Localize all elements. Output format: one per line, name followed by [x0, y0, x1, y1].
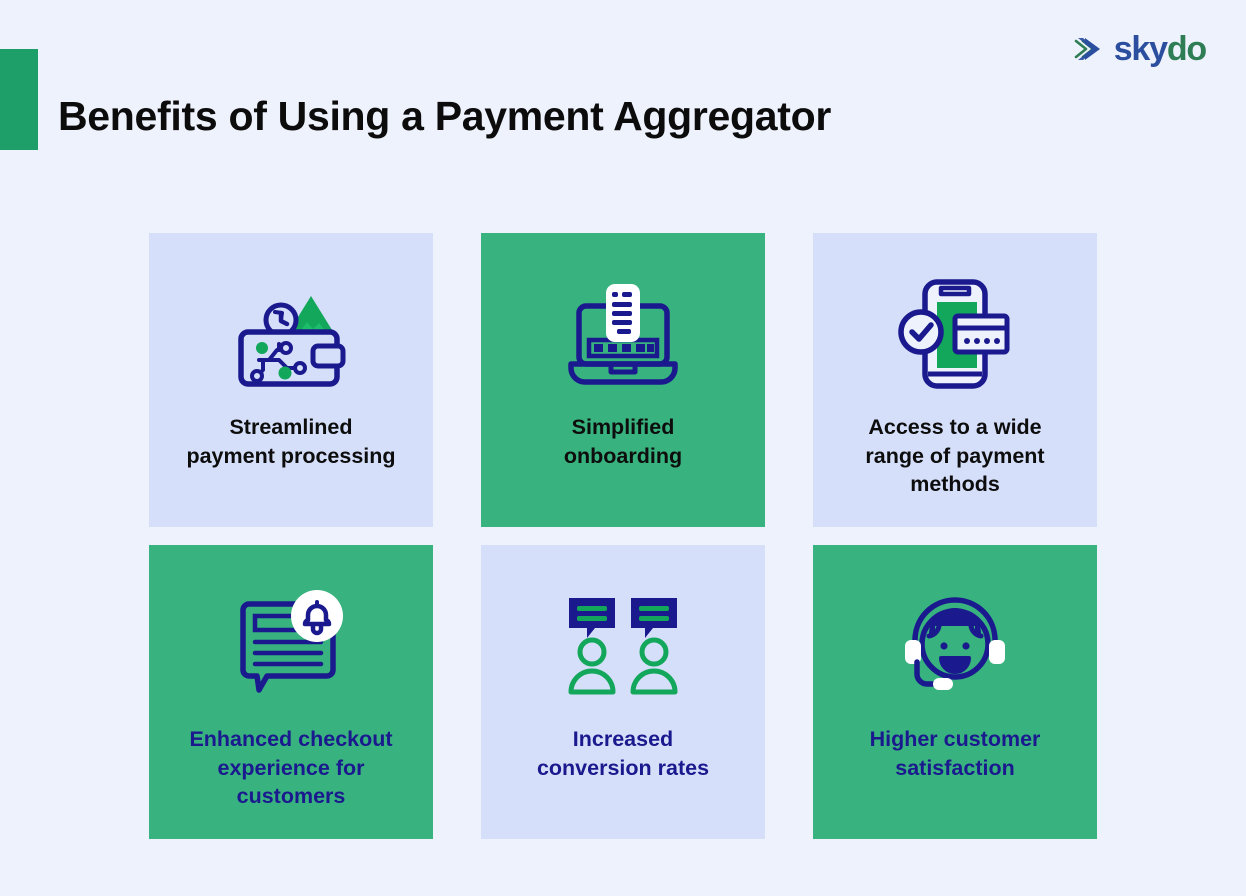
benefit-card-label: Simplified onboarding	[503, 413, 743, 470]
benefit-card-label: Streamlined payment processing	[171, 413, 411, 470]
benefits-grid: Streamlined payment processing	[149, 233, 1098, 839]
benefit-card-label: Increased conversion rates	[503, 725, 743, 782]
phone-card-check-icon	[897, 275, 1013, 393]
skydo-chevron-icon	[1073, 34, 1107, 64]
logo-word-sky: sky	[1114, 30, 1167, 68]
logo-word-do: do	[1167, 30, 1206, 68]
page-header: Benefits of Using a Payment Aggregator s…	[0, 0, 1246, 180]
benefit-card-enhanced-checkout[interactable]: Enhanced checkout experience for custome…	[149, 545, 433, 839]
benefit-card-label: Enhanced checkout experience for custome…	[171, 725, 411, 811]
benefit-card-label: Higher customer satisfaction	[835, 725, 1075, 782]
benefit-card-label: Access to a wide range of payment method…	[835, 413, 1075, 499]
chat-bubble-bell-icon	[233, 587, 349, 705]
logo-wordmark: skydo	[1114, 32, 1206, 66]
benefit-card-customer-satisfaction[interactable]: Higher customer satisfaction	[813, 545, 1097, 839]
benefit-card-increased-conversion[interactable]: Increased conversion rates	[481, 545, 765, 839]
benefit-card-simplified-onboarding[interactable]: Simplified onboarding	[481, 233, 765, 527]
laptop-form-icon	[565, 275, 681, 393]
title-accent-bar	[0, 49, 38, 150]
two-users-chat-icon	[565, 587, 681, 705]
benefit-card-streamlined-payment-processing[interactable]: Streamlined payment processing	[149, 233, 433, 527]
skydo-logo[interactable]: skydo	[1073, 28, 1206, 70]
benefit-card-payment-methods[interactable]: Access to a wide range of payment method…	[813, 233, 1097, 527]
wallet-circuit-icon	[233, 275, 349, 393]
page-title: Benefits of Using a Payment Aggregator	[58, 93, 831, 140]
support-headset-icon	[897, 587, 1013, 705]
